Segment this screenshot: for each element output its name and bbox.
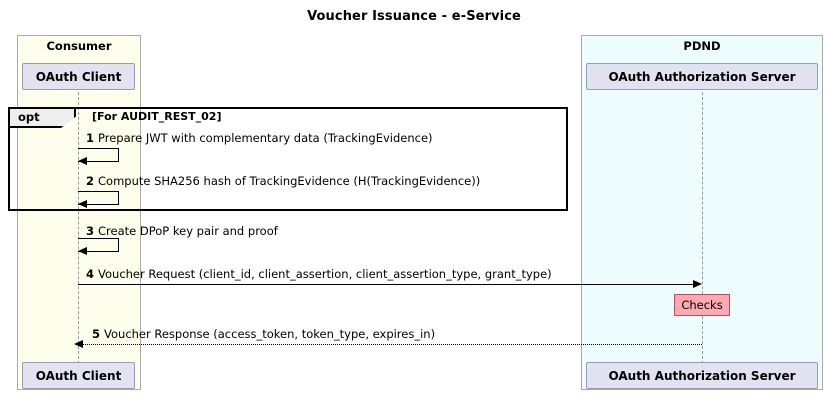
message-1-label: 1 Prepare JWT with complementary data (T…: [86, 131, 433, 145]
group-title-consumer: Consumer: [18, 39, 140, 53]
message-4-label: 4 Voucher Request (client_id, client_ass…: [86, 267, 552, 281]
note-checks: Checks: [674, 294, 730, 316]
message-2-arrowhead: [78, 200, 87, 208]
message-4-arrowhead: [693, 280, 702, 288]
message-5-line: [78, 344, 702, 345]
message-2-label: 2 Compute SHA256 hash of TrackingEvidenc…: [86, 174, 480, 188]
message-5-label: 5 Voucher Response (access_token, token_…: [92, 327, 435, 341]
message-2-text: Compute SHA256 hash of TrackingEvidence …: [98, 174, 480, 188]
diagram-title: Voucher Issuance - e-Service: [0, 9, 828, 24]
message-3-seq: 3: [86, 224, 98, 238]
message-1-arrowhead: [78, 157, 87, 165]
lifeline-oauth-authorization-server: [702, 92, 703, 364]
message-1-text: Prepare JWT with complementary data (Tra…: [98, 131, 433, 145]
message-4-text: Voucher Request (client_id, client_asser…: [98, 267, 552, 281]
participant-oauth-client-top[interactable]: OAuth Client: [22, 63, 135, 90]
sequence-diagram: Voucher Issuance - e-Service Consumer PD…: [0, 0, 828, 401]
message-4-line: [78, 284, 694, 285]
message-3-label: 3 Create DPoP key pair and proof: [86, 224, 278, 238]
message-5-text: Voucher Response (access_token, token_ty…: [104, 327, 435, 341]
message-4-seq: 4: [86, 267, 98, 281]
message-5-arrowhead: [74, 340, 83, 348]
fragment-opt-condition: [For AUDIT_REST_02]: [92, 110, 222, 123]
participant-oauth-authorization-server-bottom[interactable]: OAuth Authorization Server: [586, 362, 818, 389]
message-1-seq: 1: [86, 131, 98, 145]
participant-oauth-client-bottom[interactable]: OAuth Client: [22, 362, 135, 389]
fragment-opt-label: opt: [18, 110, 40, 124]
message-2-seq: 2: [86, 174, 98, 188]
message-5-seq: 5: [92, 327, 104, 341]
group-title-pdnd: PDND: [582, 39, 822, 53]
message-3-text: Create DPoP key pair and proof: [98, 224, 278, 238]
message-3-arrowhead: [78, 247, 87, 255]
participant-oauth-authorization-server-top[interactable]: OAuth Authorization Server: [586, 63, 818, 90]
